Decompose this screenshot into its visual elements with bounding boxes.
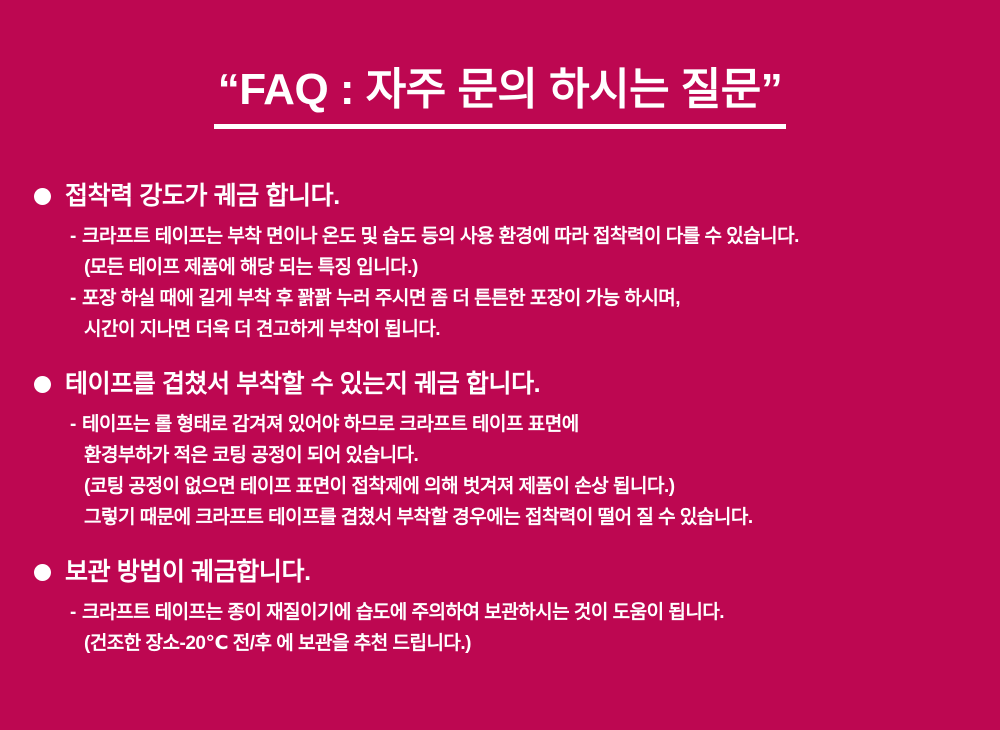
dash-icon: - bbox=[70, 409, 82, 440]
faq-answer-line: -크라프트 테이프는 부착 면이나 온도 및 습도 등의 사용 환경에 따라 접… bbox=[70, 221, 1000, 252]
faq-answer-line: (모든 테이프 제품에 해당 되는 특징 입니다.) bbox=[70, 252, 1000, 283]
faq-answer-text: 크라프트 테이프는 종이 재질이기에 습도에 주의하여 보관하시는 것이 도움이… bbox=[82, 602, 724, 623]
faq-question-text: 보관 방법이 궤금합니다. bbox=[65, 557, 311, 587]
faq-answer-line: -크라프트 테이프는 종이 재질이기에 습도에 주의하여 보관하시는 것이 도움… bbox=[70, 597, 1000, 628]
faq-answer-text: 포장 하실 때에 길게 부착 후 꽑꽑 누러 주시면 좀 더 튼튼한 포장이 가… bbox=[82, 288, 680, 309]
faq-answer-line: (건조한 장소-20℃ 전/후 에 보관을 추천 드립니다.) bbox=[70, 628, 1000, 659]
filled-circle-bullet-icon bbox=[34, 376, 51, 393]
faq-answer-text: (코팅 공정이 없으면 테이프 표면이 접착제에 의해 벗겨져 제품이 손상 됩… bbox=[84, 476, 675, 497]
faq-answer-text: 환경부하가 적은 코팅 공정이 되어 있습니다. bbox=[84, 445, 418, 466]
faq-answer-line: -테이프는 롤 형태로 감겨져 있어야 하므로 크라프트 테이프 표면에 bbox=[70, 409, 1000, 440]
faq-item: 테이프를 겹쳤서 부착할 수 있는지 궤금 합니다. -테이프는 롤 형태로 감… bbox=[0, 369, 1000, 533]
faq-page: “FAQ : 자주 문의 하시는 질문” 접착력 강도가 궤금 합니다. -크라… bbox=[0, 0, 1000, 730]
faq-answer-text: (건조한 장소-20℃ 전/후 에 보관을 추천 드립니다.) bbox=[84, 633, 471, 654]
faq-answer-list: -테이프는 롤 형태로 감겨져 있어야 하므로 크라프트 테이프 표면에 환경부… bbox=[0, 409, 1000, 533]
faq-item: 보관 방법이 궤금합니다. -크라프트 테이프는 종이 재질이기에 습도에 주의… bbox=[0, 557, 1000, 659]
faq-question-text: 접착력 강도가 궤금 합니다. bbox=[65, 181, 340, 211]
faq-question-row: 접착력 강도가 궤금 합니다. bbox=[0, 181, 1000, 211]
faq-question-row: 테이프를 겹쳤서 부착할 수 있는지 궤금 합니다. bbox=[0, 369, 1000, 399]
faq-question-row: 보관 방법이 궤금합니다. bbox=[0, 557, 1000, 587]
faq-answer-text: 테이프는 롤 형태로 감겨져 있어야 하므로 크라프트 테이프 표면에 bbox=[82, 414, 579, 435]
title-container: “FAQ : 자주 문의 하시는 질문” bbox=[0, 0, 1000, 159]
faq-answer-line: 그렇기 때문에 크라프트 테이프를 겹쳤서 부착할 경우에는 접착력이 떨어 질… bbox=[70, 502, 1000, 533]
faq-answer-text: 그렇기 때문에 크라프트 테이프를 겹쳤서 부착할 경우에는 접착력이 떨어 질… bbox=[84, 507, 753, 528]
page-title: “FAQ : 자주 문의 하시는 질문” bbox=[214, 65, 787, 129]
faq-answer-text: 시간이 지나면 더욱 더 견고하게 부착이 됩니다. bbox=[84, 319, 440, 340]
dash-icon: - bbox=[70, 283, 82, 314]
faq-answer-text: 크라프트 테이프는 부착 면이나 온도 및 습도 등의 사용 환경에 따라 접착… bbox=[82, 226, 799, 247]
faq-answer-list: -크라프트 테이프는 부착 면이나 온도 및 습도 등의 사용 환경에 따라 접… bbox=[0, 221, 1000, 345]
faq-item: 접착력 강도가 궤금 합니다. -크라프트 테이프는 부착 면이나 온도 및 습… bbox=[0, 181, 1000, 345]
faq-answer-list: -크라프트 테이프는 종이 재질이기에 습도에 주의하여 보관하시는 것이 도움… bbox=[0, 597, 1000, 659]
faq-answer-line: 시간이 지나면 더욱 더 견고하게 부착이 됩니다. bbox=[70, 314, 1000, 345]
faq-list: 접착력 강도가 궤금 합니다. -크라프트 테이프는 부착 면이나 온도 및 습… bbox=[0, 159, 1000, 659]
faq-answer-line: 환경부하가 적은 코팅 공정이 되어 있습니다. bbox=[70, 440, 1000, 471]
dash-icon: - bbox=[70, 597, 82, 628]
filled-circle-bullet-icon bbox=[34, 188, 51, 205]
faq-answer-text: (모든 테이프 제품에 해당 되는 특징 입니다.) bbox=[84, 257, 418, 278]
filled-circle-bullet-icon bbox=[34, 564, 51, 581]
faq-answer-line: (코팅 공정이 없으면 테이프 표면이 접착제에 의해 벗겨져 제품이 손상 됩… bbox=[70, 471, 1000, 502]
faq-question-text: 테이프를 겹쳤서 부착할 수 있는지 궤금 합니다. bbox=[65, 369, 540, 399]
faq-answer-line: -포장 하실 때에 길게 부착 후 꽑꽑 누러 주시면 좀 더 튼튼한 포장이 … bbox=[70, 283, 1000, 314]
dash-icon: - bbox=[70, 221, 82, 252]
